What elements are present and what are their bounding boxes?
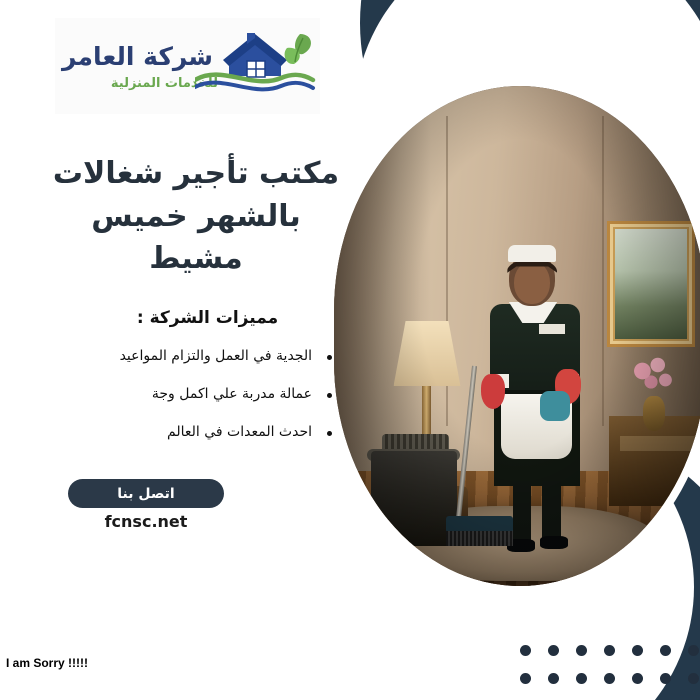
features-list: الجدية في العمل والتزام المواعيد عمالة م… xyxy=(92,348,332,461)
dot xyxy=(604,645,615,656)
house-with-leaves-icon xyxy=(195,24,320,108)
page-title: مكتب تأجير شغالات بالشهر خميس مشيط xyxy=(50,153,342,281)
dot xyxy=(632,645,643,656)
poster-canvas: شركة العامر للخدمات المنزلية مكتب تأجير … xyxy=(0,0,700,700)
dot xyxy=(604,673,615,684)
dot xyxy=(688,645,699,656)
company-logo: شركة العامر للخدمات المنزلية xyxy=(55,18,320,114)
dot xyxy=(660,673,671,684)
dot xyxy=(548,645,559,656)
maid-photo xyxy=(334,86,700,586)
dot xyxy=(576,645,587,656)
list-item: عمالة مدربة علي اكمل وجة xyxy=(92,386,332,403)
dot xyxy=(688,673,699,684)
dot xyxy=(520,673,531,684)
logo-company-name: شركة العامر xyxy=(63,42,213,71)
footer-note: I am Sorry !!!!! xyxy=(6,656,88,670)
contact-us-button[interactable]: اتصل بنا xyxy=(68,479,224,508)
dot xyxy=(632,673,643,684)
dot xyxy=(520,645,531,656)
photo-vignette xyxy=(334,86,700,586)
dot xyxy=(576,673,587,684)
dot xyxy=(548,673,559,684)
decorative-dot-grid xyxy=(503,645,699,700)
features-heading: مميزات الشركة : xyxy=(95,308,320,328)
website-url[interactable]: fcnsc.net xyxy=(68,512,224,531)
dot xyxy=(660,645,671,656)
list-item: احدث المعدات في العالم xyxy=(92,424,332,441)
list-item: الجدية في العمل والتزام المواعيد xyxy=(92,348,332,365)
